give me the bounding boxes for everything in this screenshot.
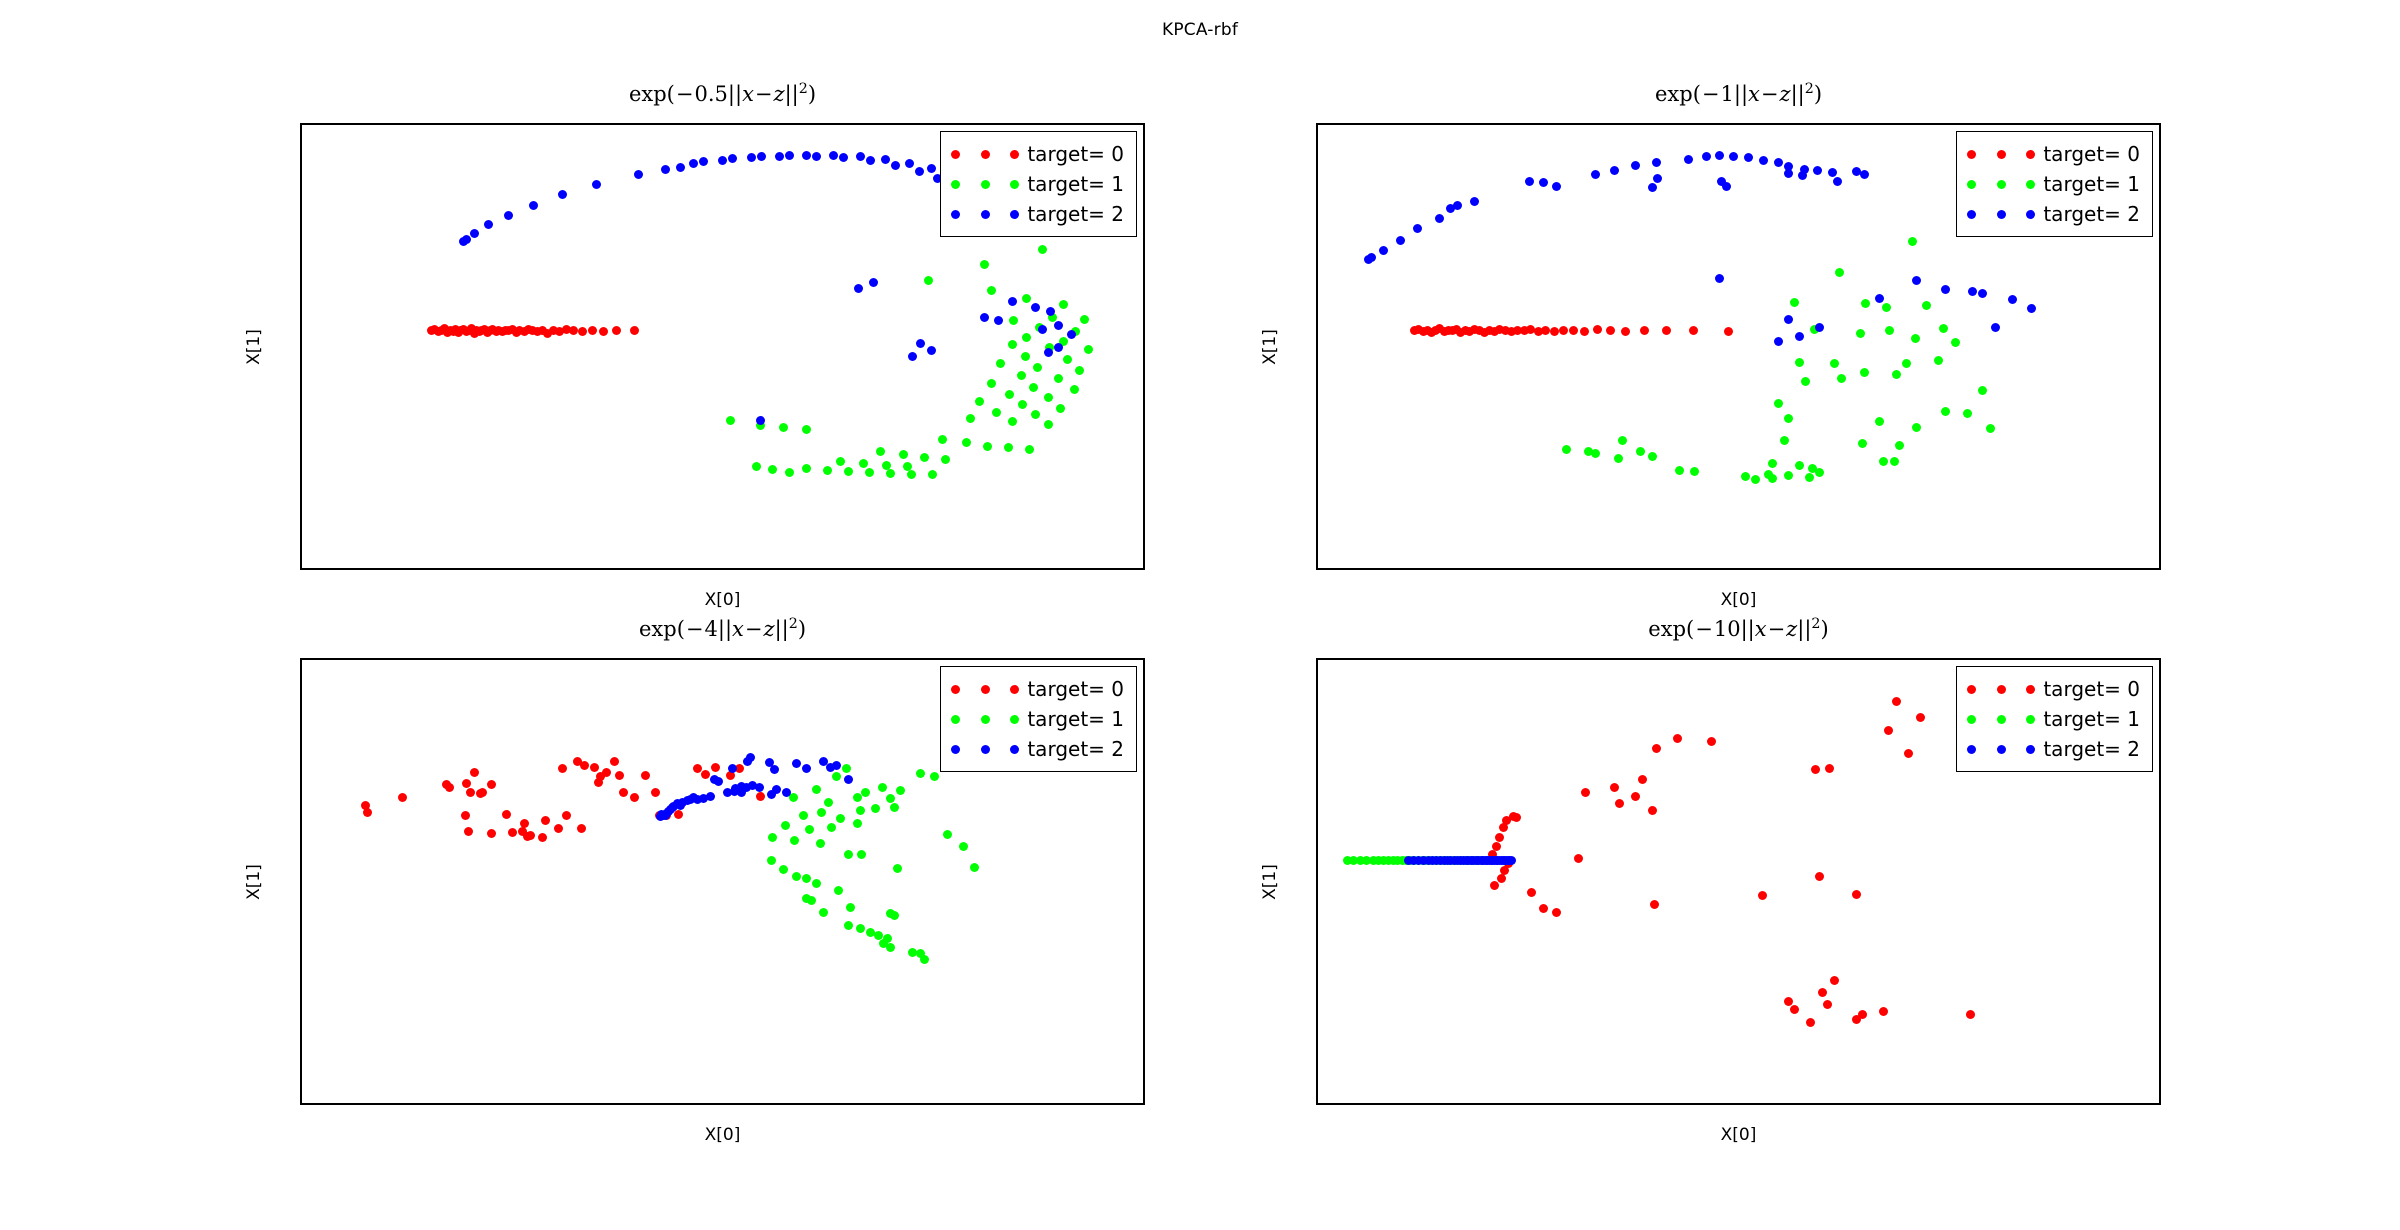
- scatter-point: [827, 823, 836, 832]
- figure-suptitle: KPCA-rbf: [0, 20, 2400, 40]
- scatter-point: [1774, 337, 1783, 346]
- scatter-point: [1662, 326, 1671, 335]
- scatter-point: [558, 764, 567, 773]
- scatter-point: [1017, 371, 1026, 380]
- legend-dot-blue-b: [1997, 745, 2006, 754]
- scatter-point: [1798, 171, 1807, 180]
- scatter-point: [1638, 775, 1647, 784]
- scatter-point: [478, 788, 487, 797]
- scatter-point: [924, 276, 933, 285]
- legend-row-target-0[interactable]: target= 0: [1967, 674, 2140, 704]
- scatter-point: [1795, 461, 1804, 470]
- legend-row-target-1[interactable]: target= 1: [1967, 704, 2140, 734]
- scatter-point: [890, 803, 899, 812]
- scatter-point: [508, 828, 517, 837]
- legend-dot-red-c: [2026, 685, 2035, 694]
- legend-row-target-2[interactable]: target= 2: [1967, 734, 2140, 764]
- legend-dot-green-b: [981, 715, 990, 724]
- legend-row-target-2[interactable]: target= 2: [951, 734, 1124, 764]
- scatter-point: [1833, 177, 1842, 186]
- scatter-point: [1009, 316, 1018, 325]
- title-minus-3: −: [685, 617, 705, 641]
- legend-row-target-2[interactable]: target= 2: [1967, 199, 2140, 229]
- scatter-point: [737, 788, 746, 797]
- scatter-point: [1033, 363, 1042, 372]
- legend-markers-target-2: [1967, 210, 2043, 219]
- scatter-point: [829, 151, 838, 160]
- scatter-point: [812, 879, 821, 888]
- scatter-point: [1784, 169, 1793, 178]
- scatter-point: [846, 903, 855, 912]
- legend-dot-green-c: [2026, 715, 2035, 724]
- scatter-point: [962, 438, 971, 447]
- scatter-point: [1768, 459, 1777, 468]
- scatter-point: [2008, 295, 2017, 304]
- scatter-point: [816, 839, 825, 848]
- scatter-point: [844, 850, 853, 859]
- panel-title-2: exp(−1||x−z||2): [1316, 81, 2161, 106]
- legend-dot-blue-b: [981, 745, 990, 754]
- scatter-point: [757, 152, 766, 161]
- scatter-point: [1029, 383, 1038, 392]
- scatter-point: [689, 159, 698, 168]
- scatter-point: [1722, 182, 1731, 191]
- scatter-point: [1640, 326, 1649, 335]
- scatter-point: [1690, 467, 1699, 476]
- panel-gamma-10: exp(−10||x−z||2) target= 0: [1316, 658, 2161, 1105]
- scatter-point: [1075, 366, 1084, 375]
- scatter-point: [775, 152, 784, 161]
- scatter-point: [398, 793, 407, 802]
- scatter-point: [1895, 441, 1904, 450]
- scatter-point: [1413, 224, 1422, 233]
- legend-dot-red-b: [1997, 685, 2006, 694]
- scatter-point: [459, 237, 468, 246]
- scatter-point: [1056, 404, 1065, 413]
- scatter-point: [502, 810, 511, 819]
- scatter-point: [941, 455, 950, 464]
- scatter-point: [866, 156, 875, 165]
- scatter-point: [1790, 1005, 1799, 1014]
- title-gamma-1: 0.5: [695, 82, 728, 106]
- title-power-3: 2: [789, 616, 798, 632]
- scatter-point: [886, 943, 895, 952]
- legend-row-target-0[interactable]: target= 0: [1967, 139, 2140, 169]
- scatter-point: [792, 872, 801, 881]
- scatter-point: [470, 768, 479, 777]
- scatter-point: [1550, 327, 1559, 336]
- scatter-point: [1902, 359, 1911, 368]
- scatter-point: [1912, 423, 1921, 432]
- scatter-point: [1815, 872, 1824, 881]
- legend-row-target-1[interactable]: target= 1: [1967, 169, 2140, 199]
- scatter-point: [1021, 352, 1030, 361]
- xaxis-label-3: X[0]: [300, 1125, 1145, 1145]
- scatter-point: [832, 761, 841, 770]
- title-gamma-2: 1: [1721, 82, 1734, 106]
- scatter-point: [1941, 407, 1950, 416]
- scatter-point: [857, 850, 866, 859]
- title-z-2: z: [1780, 82, 1791, 106]
- scatter-point: [487, 780, 496, 789]
- scatter-point: [1364, 255, 1373, 264]
- scatter-point: [834, 886, 843, 895]
- scatter-point: [802, 425, 811, 434]
- scatter-point: [1908, 237, 1917, 246]
- title-norm-open-2: ||: [1734, 82, 1748, 106]
- scatter-point: [785, 468, 794, 477]
- scatter-point: [983, 442, 992, 451]
- scatter-point: [853, 793, 862, 802]
- scatter-point: [1858, 439, 1867, 448]
- title-norm-close-3: ||: [775, 617, 789, 641]
- legend-label-target-0: target= 0: [2043, 677, 2140, 701]
- scatter-point: [805, 825, 814, 834]
- scatter-point: [726, 416, 735, 425]
- scatter-point: [470, 229, 479, 238]
- scatter-point: [886, 794, 895, 803]
- scatter-point: [714, 777, 723, 786]
- scatter-point: [1879, 457, 1888, 466]
- scatter-point: [1890, 457, 1899, 466]
- legend-dot-green-a: [1967, 180, 1976, 189]
- legend-label-target-2: target= 2: [2043, 202, 2140, 226]
- scatter-point: [466, 788, 475, 797]
- title-gamma-3: 4: [705, 617, 718, 641]
- scatter-point: [779, 865, 788, 874]
- scatter-point: [768, 833, 777, 842]
- legend-dot-blue-b: [1997, 210, 2006, 219]
- scatter-point: [1815, 323, 1824, 332]
- scatter-point: [891, 161, 900, 170]
- scatter-point: [464, 827, 473, 836]
- scatter-point: [529, 201, 538, 210]
- scatter-point: [823, 466, 832, 475]
- title-minus-1: −: [675, 82, 695, 106]
- scatter-point: [994, 316, 1003, 325]
- scatter-point: [594, 778, 603, 787]
- scatter-point: [1031, 303, 1040, 312]
- scatter-point: [905, 159, 914, 168]
- scatter-point: [1805, 473, 1814, 482]
- legend-markers-target-0: [951, 150, 1027, 159]
- legend-dot-red-a: [1967, 150, 1976, 159]
- scatter-point: [1022, 294, 1031, 303]
- scatter-point: [1044, 393, 1053, 402]
- scatter-point: [966, 414, 975, 423]
- scatter-point: [856, 152, 865, 161]
- xaxis-label-2: X[0]: [1316, 590, 2161, 610]
- legend-row-target-2[interactable]: target= 2: [951, 199, 1124, 229]
- scatter-point: [580, 761, 589, 770]
- scatter-point: [641, 771, 650, 780]
- scatter-point: [462, 779, 471, 788]
- legend-label-target-2: target= 2: [1027, 737, 1124, 761]
- scatter-point: [718, 156, 727, 165]
- title-minus-2: −: [1701, 82, 1721, 106]
- legend-dot-red-a: [1967, 685, 1976, 694]
- scatter-point: [785, 151, 794, 160]
- scatter-point: [1005, 390, 1014, 399]
- scatter-point: [1815, 468, 1824, 477]
- title-norm-open-3: ||: [718, 617, 732, 641]
- scatter-point: [1951, 338, 1960, 347]
- yaxis-label-4: X[1]: [1260, 864, 1280, 900]
- scatter-point: [526, 831, 535, 840]
- scatter-point: [836, 457, 845, 466]
- scatter-point: [1080, 315, 1089, 324]
- scatter-point: [1379, 246, 1388, 255]
- scatter-point: [1978, 289, 1987, 298]
- scatter-point: [651, 788, 660, 797]
- legend-label-target-0: target= 0: [1027, 142, 1124, 166]
- scatter-point: [980, 313, 989, 322]
- legend-label-target-1: target= 1: [1027, 172, 1124, 196]
- scatter-point: [1574, 854, 1583, 863]
- title-suffix-3: ): [798, 617, 806, 641]
- scatter-point: [1652, 158, 1661, 167]
- legend-dot-green-a: [1967, 715, 1976, 724]
- title-norm-open-1: ||: [728, 82, 742, 106]
- legend-label-target-2: target= 2: [2043, 737, 2140, 761]
- legend-1[interactable]: target= 0 target= 1 ta: [940, 131, 1137, 237]
- scatter-point: [577, 824, 586, 833]
- title-sub-4: −: [1767, 617, 1787, 641]
- scatter-point: [856, 806, 865, 815]
- scatter-point: [1784, 471, 1793, 480]
- scatter-point: [1044, 348, 1053, 357]
- scatter-point: [1008, 340, 1017, 349]
- scatter-point: [1861, 299, 1870, 308]
- title-power-1: 2: [799, 81, 808, 97]
- scatter-point: [819, 908, 828, 917]
- legend-label-target-1: target= 1: [2043, 172, 2140, 196]
- scatter-point: [1044, 420, 1053, 429]
- legend-3[interactable]: target= 0 target= 1 ta: [940, 666, 1137, 772]
- title-sub-1: −: [754, 82, 774, 106]
- scatter-point: [916, 769, 925, 778]
- legend-markers-target-0: [1967, 685, 2043, 694]
- legend-dot-green-c: [1010, 180, 1019, 189]
- scatter-point: [927, 164, 936, 173]
- title-x-1: x: [742, 82, 754, 106]
- legend-row-target-1[interactable]: target= 1: [951, 169, 1124, 199]
- scatter-point: [1875, 417, 1884, 426]
- scatter-point: [1004, 443, 1013, 452]
- scatter-point: [746, 753, 755, 762]
- scatter-point: [728, 154, 737, 163]
- legend-dot-blue-b: [981, 210, 990, 219]
- scatter-point: [1715, 274, 1724, 283]
- scatter-point: [1648, 452, 1657, 461]
- scatter-point: [520, 819, 529, 828]
- scatter-point: [1860, 170, 1869, 179]
- title-suffix-2: ): [1814, 82, 1822, 106]
- legend-row-target-0[interactable]: target= 0: [951, 139, 1124, 169]
- scatter-point: [975, 397, 984, 406]
- scatter-point: [752, 462, 761, 471]
- scatter-point: [1525, 177, 1534, 186]
- title-sub-3: −: [744, 617, 764, 641]
- legend-row-target-1[interactable]: target= 1: [951, 704, 1124, 734]
- scatter-point: [1825, 764, 1834, 773]
- scatter-point: [1884, 726, 1893, 735]
- scatter-point: [1054, 343, 1063, 352]
- title-prefix-1: exp(: [629, 82, 675, 106]
- scatter-point: [844, 467, 853, 476]
- scatter-point: [1784, 414, 1793, 423]
- scatter-point: [1610, 166, 1619, 175]
- scatter-point: [824, 798, 833, 807]
- legend-label-target-2: target= 2: [1027, 202, 1124, 226]
- legend-dot-blue-a: [951, 745, 960, 754]
- title-power-2: 2: [1805, 81, 1814, 97]
- scatter-point: [842, 764, 851, 773]
- scatter-point: [1922, 301, 1931, 310]
- legend-dot-green-b: [1997, 715, 2006, 724]
- legend-dot-blue-c: [1010, 210, 1019, 219]
- scatter-point: [1818, 988, 1827, 997]
- scatter-point: [1495, 833, 1504, 842]
- scatter-point: [908, 352, 917, 361]
- scatter-point: [844, 775, 853, 784]
- scatter-point: [1986, 424, 1995, 433]
- scatter-point: [1751, 475, 1760, 484]
- scatter-point: [767, 856, 776, 865]
- legend-4[interactable]: target= 0 target= 1 ta: [1956, 666, 2153, 772]
- title-prefix-4: exp(: [1648, 617, 1694, 641]
- scatter-point: [1618, 436, 1627, 445]
- scatter-point: [1059, 300, 1068, 309]
- legend-row-target-0[interactable]: target= 0: [951, 674, 1124, 704]
- panel-gamma-1: exp(−1||x−z||2) target= 0: [1316, 123, 2161, 570]
- legend-dot-blue-a: [1967, 210, 1976, 219]
- scatter-point: [1912, 276, 1921, 285]
- scatter-point: [1904, 749, 1913, 758]
- scatter-point: [853, 819, 862, 828]
- scatter-point: [781, 821, 790, 830]
- legend-2[interactable]: target= 0 target= 1 ta: [1956, 131, 2153, 237]
- scatter-point: [1580, 327, 1589, 336]
- scatter-point: [1539, 904, 1548, 913]
- scatter-point: [1631, 792, 1640, 801]
- scatter-point: [1790, 298, 1799, 307]
- scatter-point: [1707, 737, 1716, 746]
- scatter-point: [1636, 447, 1645, 456]
- scatter-point: [844, 921, 853, 930]
- scatter-point: [1978, 386, 1987, 395]
- scatter-point: [602, 768, 611, 777]
- scatter-point: [1648, 183, 1657, 192]
- scatter-point: [876, 447, 885, 456]
- legend-markers-target-2: [1967, 745, 2043, 754]
- scatter-point: [747, 153, 756, 162]
- scatter-point: [615, 771, 624, 780]
- scatter-point: [1038, 325, 1047, 334]
- scatter-point: [1614, 454, 1623, 463]
- scatter-point: [363, 808, 372, 817]
- scatter-point: [1830, 359, 1839, 368]
- legend-dot-blue-c: [1010, 745, 1019, 754]
- scatter-point: [782, 788, 791, 797]
- axes-frame-4: target= 0 target= 1 ta: [1316, 658, 2161, 1105]
- scatter-point: [812, 785, 821, 794]
- scatter-point: [1968, 287, 1977, 296]
- scatter-point: [1892, 370, 1901, 379]
- scatter-point: [599, 327, 608, 336]
- scatter-point: [1025, 445, 1034, 454]
- legend-label-target-1: target= 1: [1027, 707, 1124, 731]
- scatter-point: [1795, 332, 1804, 341]
- scatter-point: [802, 151, 811, 160]
- yaxis-label-2: X[1]: [1260, 329, 1280, 365]
- legend-dot-red-a: [951, 150, 960, 159]
- scatter-point: [1911, 334, 1920, 343]
- scatter-point: [630, 793, 639, 802]
- title-norm-open-4: ||: [1741, 617, 1755, 641]
- scatter-point: [802, 764, 811, 773]
- scatter-point: [1610, 783, 1619, 792]
- scatter-point: [711, 763, 720, 772]
- scatter-point: [674, 810, 683, 819]
- scatter-point: [1835, 268, 1844, 277]
- title-prefix-3: exp(: [639, 617, 685, 641]
- scatter-point: [1070, 385, 1079, 394]
- title-norm-close-1: ||: [785, 82, 799, 106]
- scatter-point: [1934, 356, 1943, 365]
- legend-dot-blue-c: [2026, 210, 2035, 219]
- scatter-point: [592, 180, 601, 189]
- legend-dot-blue-c: [2026, 745, 2035, 754]
- scatter-point: [619, 788, 628, 797]
- scatter-point: [538, 833, 547, 842]
- scatter-point: [980, 260, 989, 269]
- scatter-point: [1741, 472, 1750, 481]
- scatter-point: [1648, 806, 1657, 815]
- scatter-point: [861, 788, 870, 797]
- legend-dot-red-c: [2026, 150, 2035, 159]
- scatter-point: [554, 824, 563, 833]
- scatter-point: [1022, 333, 1031, 342]
- figure-canvas: KPCA-rbf exp(−0.5||x−z||2) target= 0: [0, 0, 2400, 1230]
- scatter-point: [927, 346, 936, 355]
- scatter-point: [1852, 890, 1861, 899]
- title-z-1: z: [774, 82, 785, 106]
- scatter-point: [1882, 303, 1891, 312]
- scatter-point: [1991, 323, 2000, 332]
- legend-dot-green-a: [951, 180, 960, 189]
- scatter-point: [1852, 1015, 1861, 1024]
- scatter-point: [588, 326, 597, 335]
- scatter-point: [676, 163, 685, 172]
- scatter-point: [1559, 326, 1568, 335]
- scatter-point: [1916, 713, 1925, 722]
- scatter-point: [987, 286, 996, 295]
- scatter-point: [1562, 445, 1571, 454]
- scatter-point: [1837, 374, 1846, 383]
- scatter-point: [755, 783, 764, 792]
- legend-dot-red-b: [981, 685, 990, 694]
- scatter-point: [928, 470, 937, 479]
- scatter-point: [871, 804, 880, 813]
- scatter-point: [1054, 321, 1063, 330]
- scatter-point: [1527, 888, 1536, 897]
- scatter-point: [779, 423, 788, 432]
- legend-markers-target-0: [951, 685, 1027, 694]
- scatter-point: [1758, 891, 1767, 900]
- scatter-point: [1811, 765, 1820, 774]
- scatter-point: [836, 814, 845, 823]
